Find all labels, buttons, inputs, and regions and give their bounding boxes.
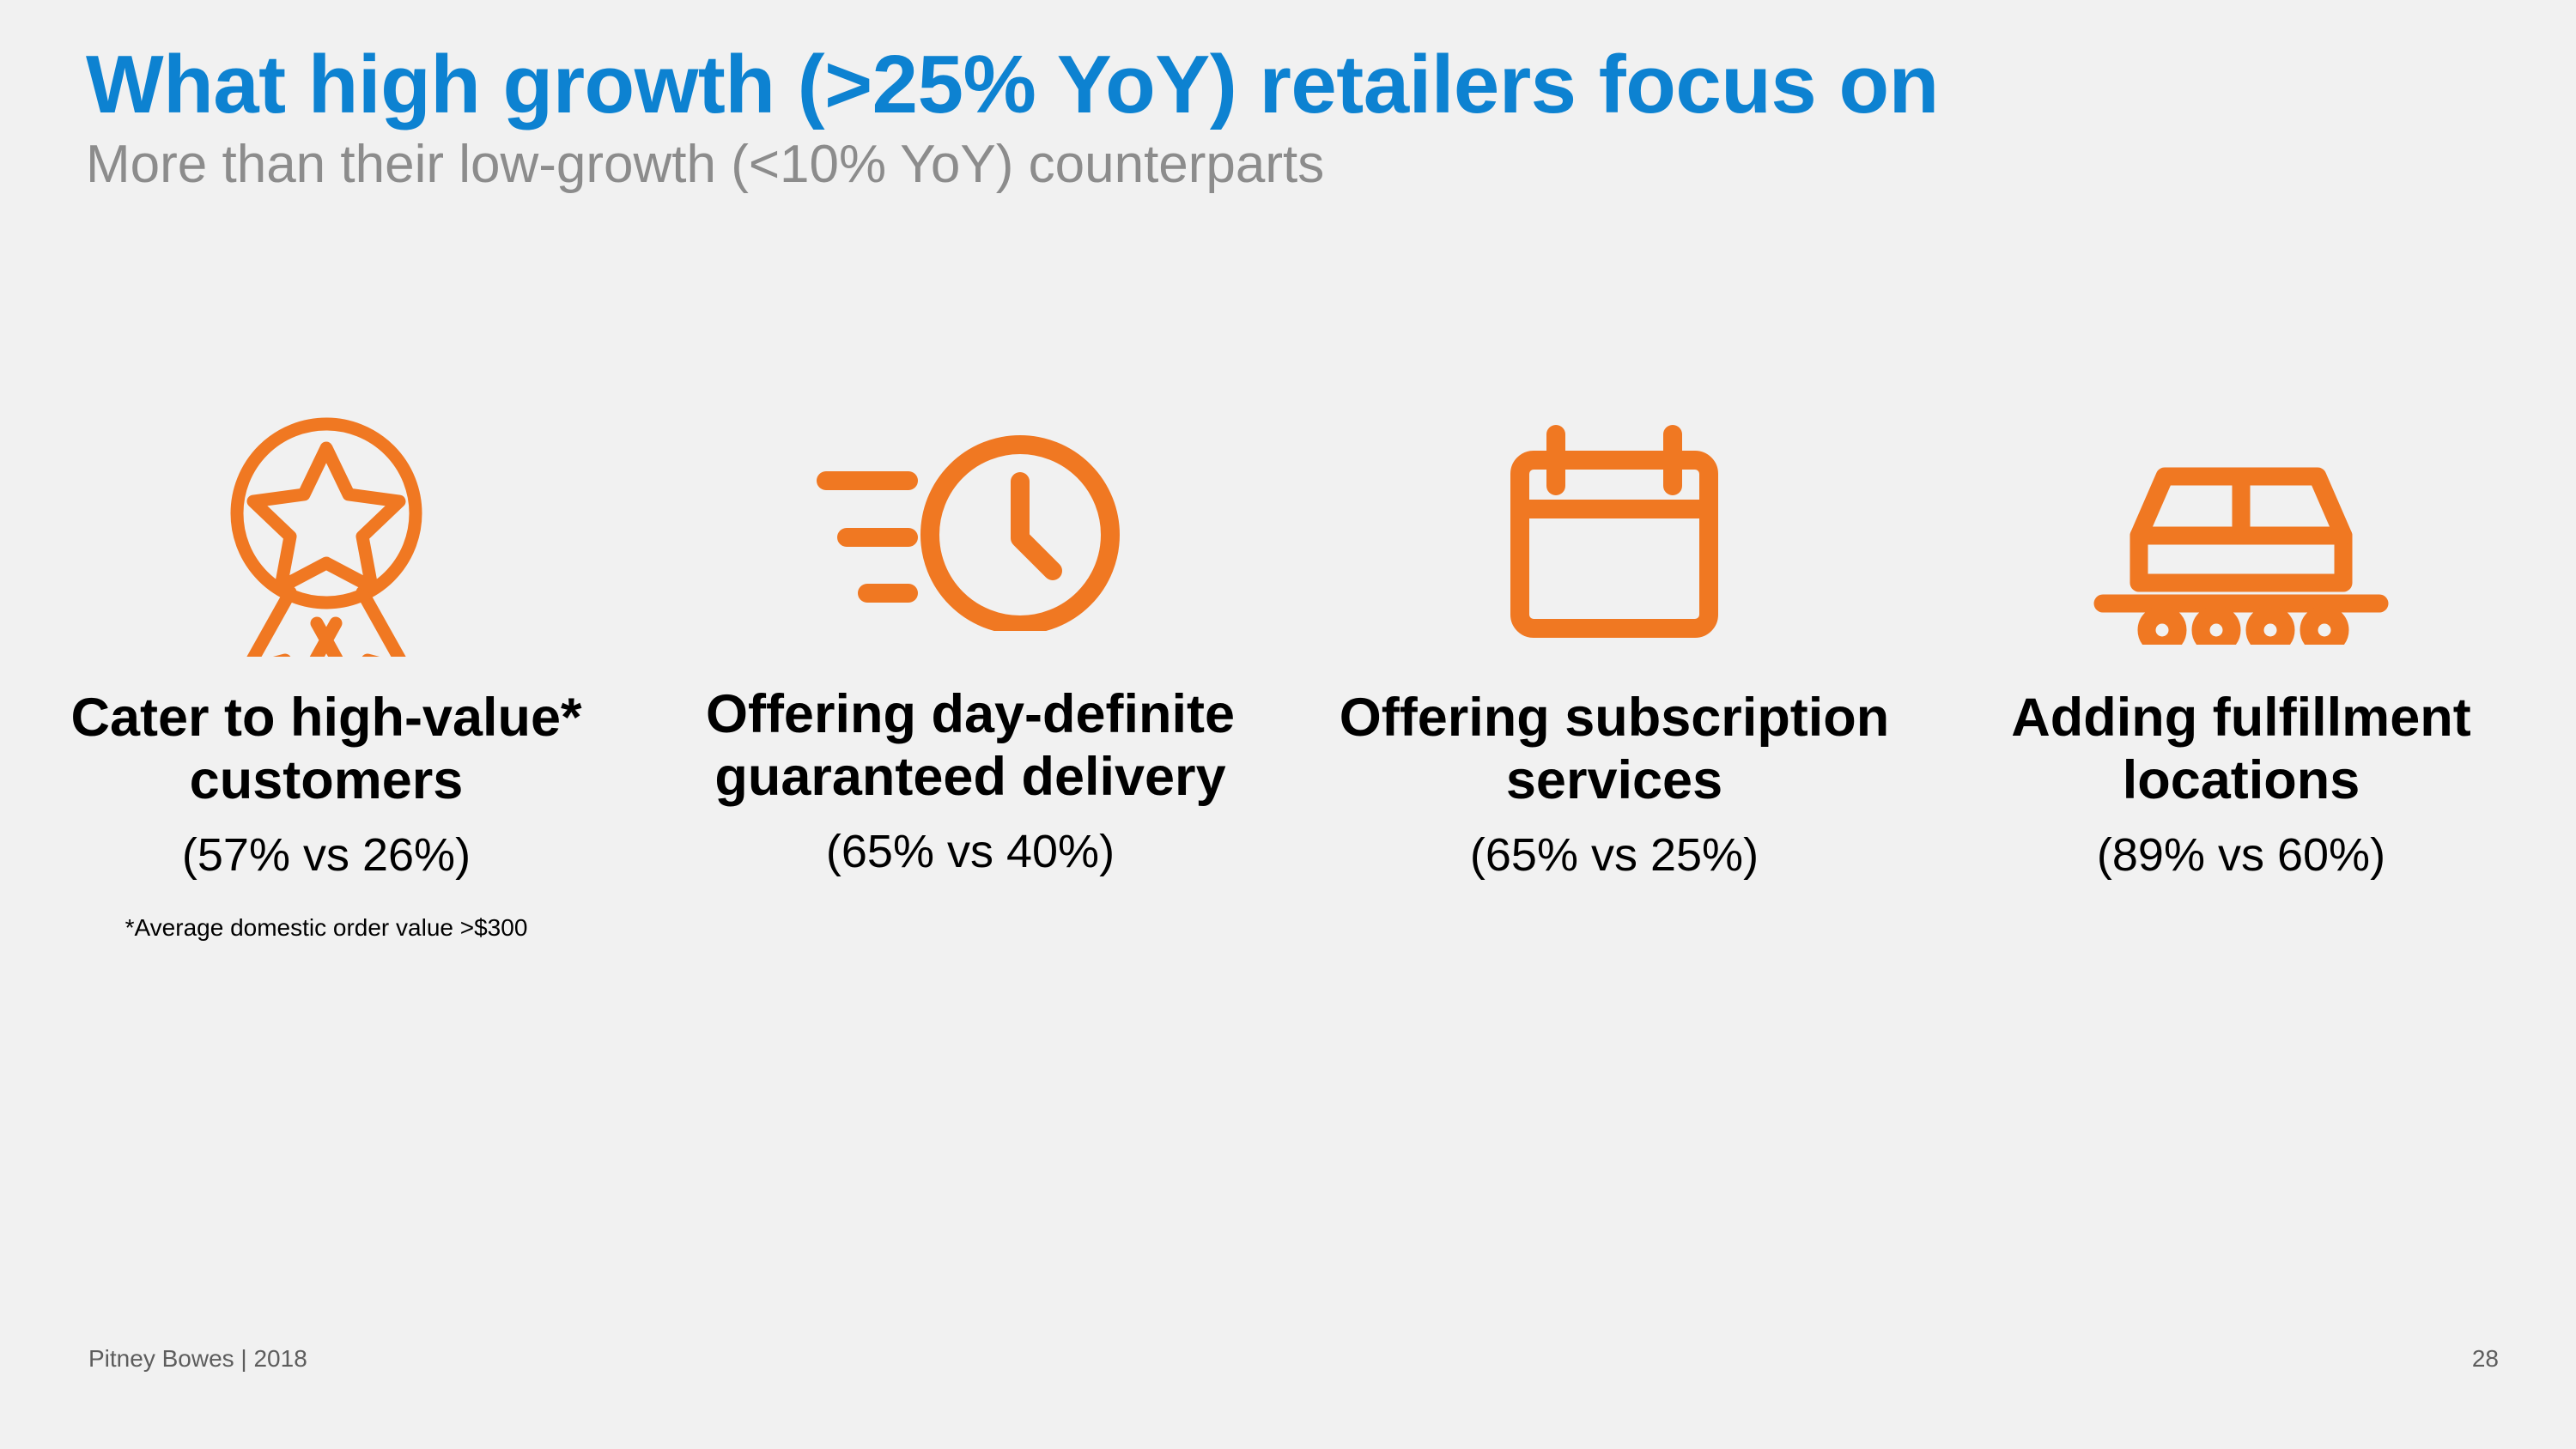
- column-subscription-services: Offering subscription services (65% vs 2…: [1305, 403, 1923, 912]
- page-title: What high growth (>25% YoY) retailers fo…: [86, 41, 2490, 129]
- column-stat: (65% vs 40%): [826, 824, 1115, 880]
- column-stat: (65% vs 25%): [1470, 828, 1759, 883]
- slide-canvas: What high growth (>25% YoY) retailers fo…: [0, 0, 2576, 1449]
- column-title: Offering day-definite guaranteed deliver…: [644, 683, 1297, 809]
- box-conveyor-icon: [2087, 403, 2396, 661]
- column-fulfillment-locations: Adding fulfillment locations (89% vs 60%…: [1941, 403, 2542, 912]
- clock-speed-icon: [816, 403, 1125, 661]
- column-stat: (89% vs 60%): [2097, 828, 2385, 883]
- column-footnote: *Average domestic order value >$300: [125, 912, 528, 944]
- column-stat: (57% vs 26%): [182, 828, 471, 883]
- column-day-definite-delivery: Offering day-definite guaranteed deliver…: [644, 403, 1297, 909]
- award-badge-icon: [223, 403, 429, 661]
- page-subtitle: More than their low-growth (<10% YoY) co…: [86, 134, 2490, 195]
- column-title: Cater to high-value* customers: [17, 687, 635, 812]
- page-number: 28: [2472, 1345, 2499, 1373]
- slide-header: What high growth (>25% YoY) retailers fo…: [86, 41, 2490, 195]
- content-columns: Cater to high-value* customers (57% vs 2…: [0, 403, 2576, 944]
- column-title: Adding fulfillment locations: [1941, 687, 2542, 812]
- column-cater-to-high-value-customers: Cater to high-value* customers (57% vs 2…: [17, 403, 635, 944]
- calendar-icon: [1509, 403, 1720, 661]
- footer-attribution: Pitney Bowes | 2018: [88, 1345, 307, 1373]
- column-title: Offering subscription services: [1305, 687, 1923, 812]
